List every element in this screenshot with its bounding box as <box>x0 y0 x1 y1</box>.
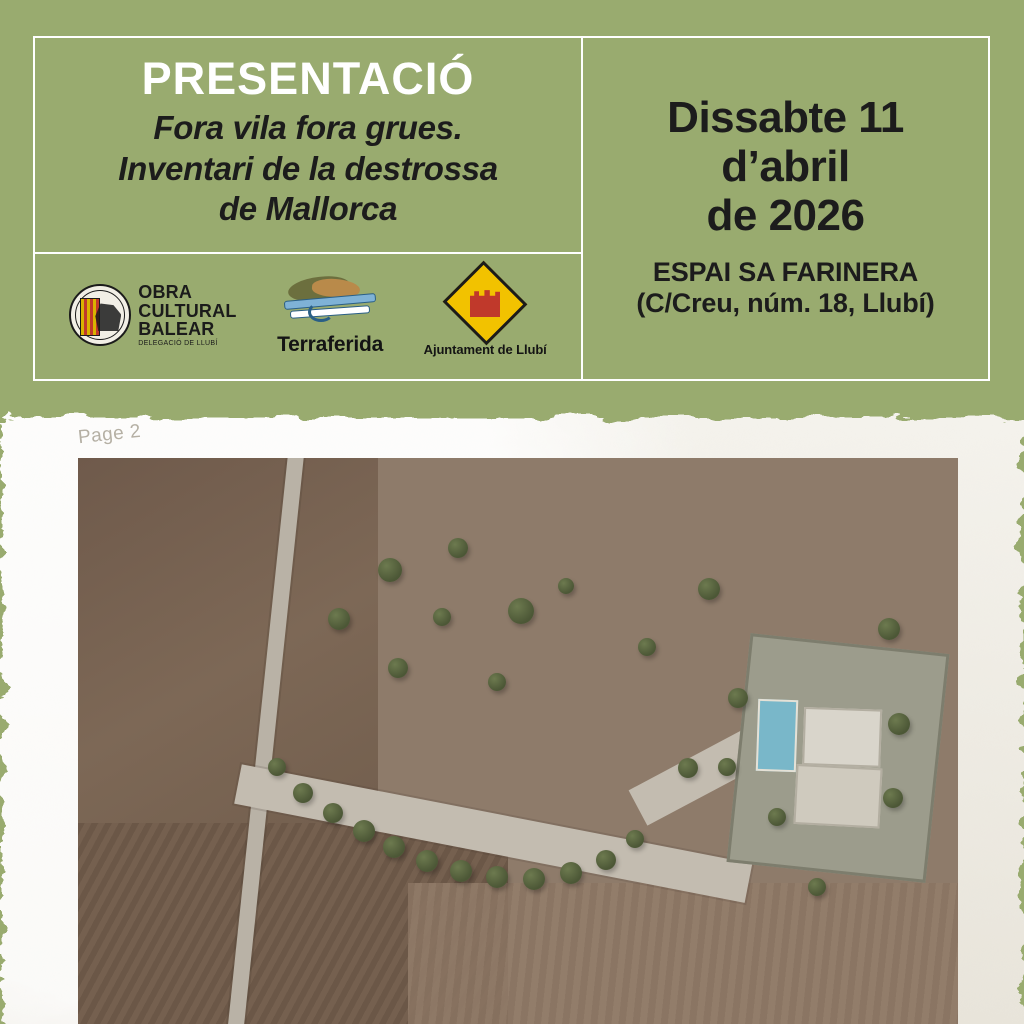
ocb-line-2: CULTURAL <box>138 302 236 320</box>
ocb-delegation-line: DELEGACIÓ DE LLUBÍ <box>138 340 236 347</box>
event-date-line-3: de 2026 <box>667 191 904 240</box>
poster-root: PRESENTACIÓ Fora vila fora grues. Invent… <box>0 0 1024 1024</box>
event-date-line-1: Dissabte 11 <box>667 93 904 142</box>
ocb-wordmark: OBRA CULTURAL BALEAR DELEGACIÓ DE LLUBÍ <box>138 283 236 347</box>
event-venue-name: ESPAI SA FARINERA <box>636 257 934 289</box>
logo-ajuntament-de-llubi: Ajuntament de Llubí <box>424 274 547 357</box>
event-date: Dissabte 11 d’abril de 2026 <box>667 93 904 241</box>
llubi-crest-icon <box>443 261 528 346</box>
ocb-seal-icon <box>69 284 131 346</box>
event-date-line-2: d’abril <box>667 142 904 191</box>
villa-building-1 <box>802 707 882 768</box>
aerial-photo-rural-estate <box>78 458 958 1024</box>
event-venue: ESPAI SA FARINERA (C/Creu, núm. 18, Llub… <box>636 257 934 321</box>
subtitle-block: Fora vila fora grues. Inventari de la de… <box>118 108 498 229</box>
logo-obra-cultural-balear: OBRA CULTURAL BALEAR DELEGACIÓ DE LLUBÍ <box>69 283 236 347</box>
logo-row: OBRA CULTURAL BALEAR DELEGACIÓ DE LLUBÍ <box>35 254 581 379</box>
terraferida-label: Terraferida <box>277 333 383 357</box>
subtitle-line-1: Fora vila fora grues. <box>118 108 498 148</box>
estate-compound <box>727 633 950 883</box>
title-block: PRESENTACIÓ Fora vila fora grues. Invent… <box>35 38 581 254</box>
subtitle-line-2: Inventari de la destrossa <box>118 149 498 189</box>
villa-building-2 <box>793 764 882 828</box>
header-panel: PRESENTACIÓ Fora vila fora grues. Invent… <box>33 36 990 381</box>
subtitle-line-3: de Mallorca <box>118 189 498 229</box>
swimming-pool <box>756 699 798 772</box>
ocb-line-3: BALEAR <box>138 320 236 338</box>
ocb-line-1: OBRA <box>138 283 236 301</box>
event-details-column: Dissabte 11 d’abril de 2026 ESPAI SA FAR… <box>583 38 988 379</box>
logo-terraferida: Terraferida <box>277 275 383 357</box>
photo-section: Page 2 <box>0 398 1024 1024</box>
terraferida-mark-icon <box>282 275 378 329</box>
event-venue-address: (C/Creu, núm. 18, Llubí) <box>636 288 934 320</box>
page-title: PRESENTACIÓ <box>142 55 475 102</box>
header-left-column: PRESENTACIÓ Fora vila fora grues. Invent… <box>35 38 583 379</box>
